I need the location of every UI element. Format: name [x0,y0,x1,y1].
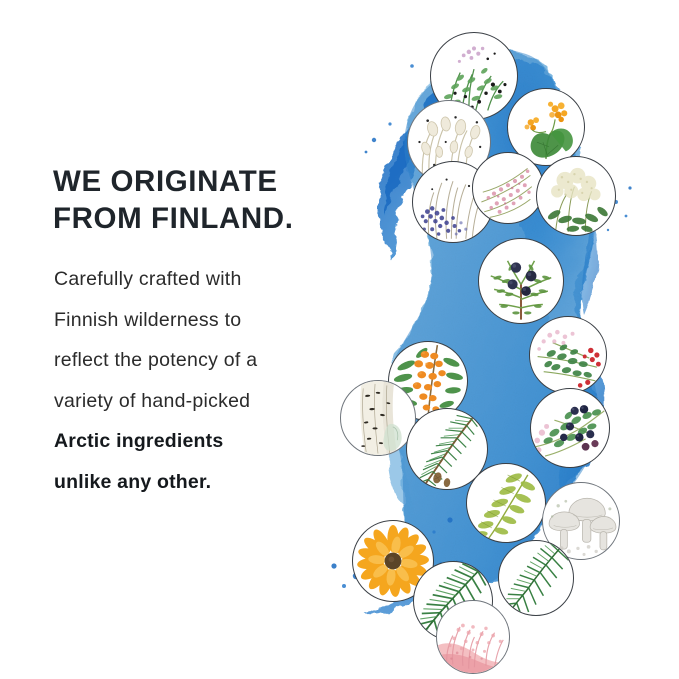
body-line: variety of hand-picked [54,390,250,412]
pink-algae-circle [436,600,510,674]
body-line: Finnish wilderness to [54,309,241,331]
text-column: WE ORIGINATE FROM FINLAND. Carefully cra… [53,163,353,237]
juniper-circle [478,238,564,324]
page-title: WE ORIGINATE FROM FINLAND. [53,163,353,237]
birch-bark-circle [340,380,416,456]
body-line: reflect the potency of a [54,349,257,371]
body-paragraph: Carefully crafted withFinnish wilderness… [54,259,356,502]
willowherb-circle [472,152,544,224]
meadowsweet-circle [536,156,616,236]
cloudberry-leaf-circle [466,463,546,543]
lingonberry-circle [529,316,607,394]
bilberry-circle [530,388,610,468]
body-line: Carefully crafted with [54,268,242,290]
pine-needles-circle [498,540,574,616]
body-line: Arctic ingredients [54,430,223,452]
poster-canvas: WE ORIGINATE FROM FINLAND. Carefully cra… [0,0,679,679]
body-line: unlike any other. [54,471,211,493]
finland-map [330,20,679,660]
